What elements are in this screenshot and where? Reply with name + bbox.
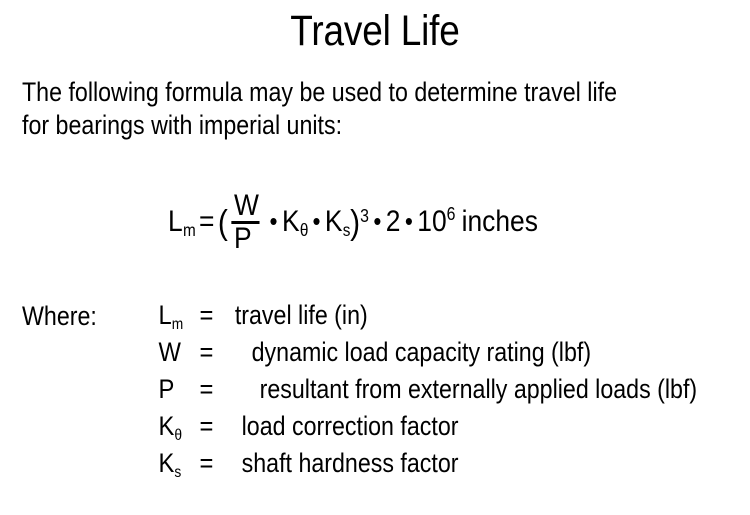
page-title: Travel Life: [53, 6, 698, 56]
definition-symbol: Ks: [159, 448, 196, 483]
definition-row: Lm = travel life (in): [156, 300, 733, 337]
formula-k-theta: Kθ: [282, 207, 308, 237]
definition-symbol-base: W: [159, 337, 181, 367]
definition-symbol: W: [159, 337, 196, 367]
formula-lhs: Lm: [168, 207, 195, 237]
definition-text: resultant from externally applied loads …: [260, 374, 698, 404]
intro-line-2: for bearings with imperial units:: [22, 109, 634, 142]
formula-units: inches: [455, 207, 537, 237]
intro-paragraph: The following formula may be used to det…: [22, 76, 634, 142]
definition-symbol-subscript: s: [174, 458, 181, 488]
definition-row: W = dynamic load capacity rating (lbf): [156, 337, 733, 374]
definition-text: shaft hardness factor: [242, 448, 459, 478]
formula-ten-base: 10: [417, 205, 446, 238]
definition-symbol: Lm: [159, 300, 196, 335]
definition-text: dynamic load capacity rating (lbf): [252, 337, 591, 367]
formula-fraction-w-over-p: W P: [231, 191, 261, 254]
definition-symbol: Kθ: [159, 411, 196, 446]
definition-equals: =: [200, 411, 223, 441]
definition-equals: =: [200, 300, 223, 330]
formula-dot-4: •: [400, 208, 417, 234]
definition-text: load correction factor: [242, 411, 459, 441]
formula-k-s: Ks: [325, 207, 350, 237]
formula-denominator: P: [231, 219, 254, 255]
definition-text: travel life (in): [235, 300, 368, 330]
formula-dot-2: •: [308, 208, 325, 234]
intro-line-1: The following formula may be used to det…: [22, 76, 634, 109]
definition-row: Kθ = load correction factor: [156, 411, 733, 448]
formula-close-paren: ): [350, 204, 360, 242]
formula-lhs-subscript: m: [183, 222, 196, 239]
definition-symbol-subscript: θ: [174, 421, 182, 451]
definition-row: P = resultant from externally applied lo…: [156, 374, 733, 411]
formula-dot-1: •: [265, 208, 282, 234]
definition-row: Ks = shaft hardness factor: [156, 448, 733, 485]
formula-close-paren-group: )3: [350, 205, 369, 239]
formula-open-paren: (: [218, 206, 228, 240]
formula-ten-exponent: 6: [447, 205, 456, 223]
formula-dot-3: •: [369, 208, 386, 234]
definition-symbol-base: K: [159, 448, 175, 478]
formula-power-of-ten: 106: [417, 207, 455, 237]
definition-equals: =: [200, 448, 223, 478]
travel-life-formula: Lm = ( W P • Kθ • Ks )3 • 2 • 106 inches: [168, 182, 538, 262]
definition-symbol-base: P: [159, 374, 175, 404]
definition-equals: =: [200, 374, 223, 404]
definition-symbol-base: L: [159, 300, 172, 330]
formula-k-theta-base: K: [282, 205, 300, 238]
where-label: Where:: [22, 300, 97, 333]
formula-factor-2: 2: [386, 207, 401, 237]
definition-equals: =: [200, 337, 223, 367]
definition-symbol-base: K: [159, 411, 175, 441]
definition-symbol-subscript: m: [172, 310, 183, 340]
formula-lhs-base: L: [168, 205, 183, 238]
formula-exponent-3: 3: [360, 207, 369, 225]
definition-symbol: P: [159, 374, 196, 404]
formula-k-s-base: K: [325, 205, 343, 238]
slide-page: Travel Life The following formula may be…: [0, 0, 750, 515]
definition-list: Lm = travel life (in) W = dynamic load c…: [156, 300, 733, 485]
formula-equals: =: [195, 207, 217, 237]
